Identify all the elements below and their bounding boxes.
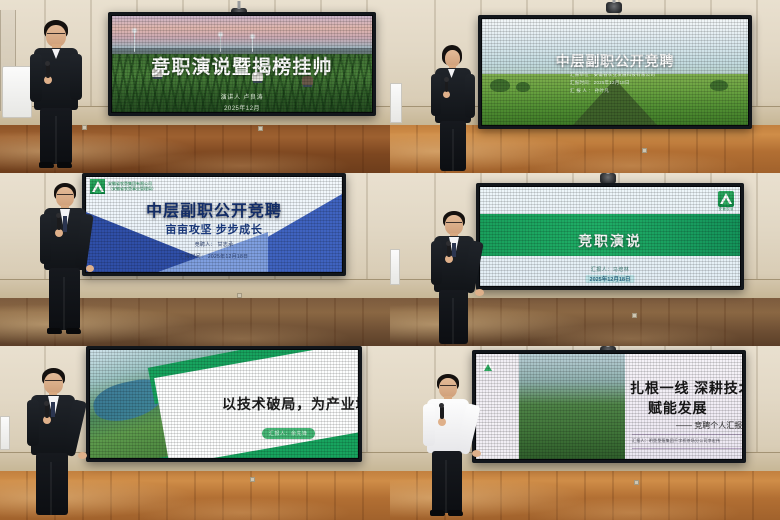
presenter-legs <box>36 453 68 515</box>
glasses-icon <box>440 385 456 388</box>
presenter-head <box>56 187 74 207</box>
slide-1: 竞职演说暨揭榜挂帅 演讲人 卢良涛 2025年12月 <box>112 16 372 112</box>
wall-outlet <box>258 126 263 131</box>
microphone-icon <box>46 64 50 78</box>
wall-outlet <box>237 293 242 298</box>
green-mountain-a-logo-icon <box>718 191 734 207</box>
presenter-shoe <box>430 510 445 516</box>
wall-outlet <box>250 477 255 482</box>
slide-divider <box>632 434 742 435</box>
slide-6: 扎根一线 深耕技术 赋能发展 —— 竞聘个人汇报 汇报人：明垦垦殖集团千字桥茶场… <box>476 354 742 459</box>
wind-turbine-icon <box>220 34 221 52</box>
whiteboard <box>390 249 400 285</box>
slide-5: 以技术破局，为产业增效 汇报人：余先锋 <box>90 350 358 458</box>
presenter-shoe <box>57 162 72 168</box>
panel-6: 扎根一线 深耕技术 赋能发展 —— 竞聘个人汇报 汇报人：明垦垦殖集团千字桥茶场… <box>390 346 780 520</box>
presenter-arm-left <box>30 54 42 102</box>
glasses-icon <box>446 222 462 225</box>
led-screen: 以技术破局，为产业增效 汇报人：余先锋 <box>90 350 358 458</box>
photo-grid: 竞职演说暨揭榜挂帅 演讲人 卢良涛 2025年12月 <box>0 0 780 520</box>
slide-subtitle: —— 竞聘个人汇报 <box>676 420 742 431</box>
presenter-4 <box>430 211 484 346</box>
slide-presenter-line: 汇报人：马培林 <box>591 266 630 273</box>
slide-presenter-line: 汇 报 人 ： 孙叶凡 <box>570 88 609 94</box>
led-screen: 安 徽 农 垦 竞职演说 汇报人：马培林 2025年12月18日 <box>480 187 740 286</box>
slide-presenter-line: 汇报人：明垦垦殖集团千字桥茶场分公司李宏伟 <box>632 438 720 444</box>
slide-presenter-line: 演讲人 卢良涛 <box>221 92 264 101</box>
slide-tree <box>490 79 510 92</box>
wall-outlet <box>634 480 639 485</box>
led-screen-frame: 安 徽 农 垦 竞职演说 汇报人：马培林 2025年12月18日 <box>476 183 744 290</box>
led-screen-frame: 以技术破局，为产业增效 汇报人：余先锋 <box>86 346 362 462</box>
slide-3: 安徽省农垦集团有限公司 （安徽省农垦事业管理局） 中层副职公开竞聘 亩亩攻坚 步… <box>86 177 342 272</box>
presenter-arm-left <box>40 214 51 264</box>
presenter-hand-gesture <box>78 452 87 459</box>
slide-title: 竞职演说 <box>578 231 642 251</box>
ceiling-camera <box>606 2 622 13</box>
presenter-arm-right <box>465 74 475 118</box>
slide-date-line: 2025年12月 <box>224 103 260 112</box>
slide-tree <box>516 82 530 92</box>
microphone-icon <box>45 404 49 418</box>
presenter-hand <box>438 418 446 426</box>
presenter-arm-left <box>423 404 435 446</box>
presenter-shoe <box>66 328 81 334</box>
whiteboard <box>0 416 10 450</box>
wind-turbine-icon <box>252 36 253 52</box>
presenter-legs <box>432 451 462 513</box>
presenter-hand-gesture <box>472 450 481 457</box>
panel-1: 竞职演说暨揭榜挂帅 演讲人 卢良涛 2025年12月 <box>0 0 390 173</box>
presenter-3 <box>38 183 94 343</box>
slide-title: 中层副职公开竞聘 <box>556 51 675 71</box>
led-screen-frame: 扎根一线 深耕技术 赋能发展 —— 竞聘个人汇报 汇报人：明垦垦殖集团千字桥茶场… <box>472 350 746 463</box>
presenter-6 <box>422 374 480 520</box>
panel-4: 安 徽 农 垦 竞职演说 汇报人：马培林 2025年12月18日 <box>390 173 780 346</box>
led-screen: 中层副职公开竞聘 汇报单位：安徽省农业发展科技有限公司 汇报时间：2025年12… <box>482 19 748 125</box>
presenter-head <box>44 373 63 394</box>
company-logo-caption: 安 徽 农 垦 <box>719 208 734 211</box>
presenter-shoe <box>39 162 54 168</box>
slide-date-line: 2025年12月18日 <box>586 275 635 283</box>
slide-divider <box>632 448 742 449</box>
slide-title: 中层副职公开竞聘 <box>146 197 282 221</box>
presenter-2 <box>430 45 476 173</box>
presenter-shoe <box>47 328 62 334</box>
presenter-leg-gap <box>445 460 447 513</box>
green-mountain-a-logo-icon <box>479 357 496 374</box>
wind-turbine-icon <box>134 30 135 52</box>
presenter-1 <box>28 20 84 170</box>
led-screen-frame: 竞职演说暨揭榜挂帅 演讲人 卢良涛 2025年12月 <box>108 12 376 116</box>
led-screen: 扎根一线 深耕技术 赋能发展 —— 竞聘个人汇报 汇报人：明垦垦殖集团千字桥茶场… <box>476 354 742 459</box>
slide-shape-mid <box>158 232 268 272</box>
glasses-icon <box>45 380 62 383</box>
company-logo: 安 徽 农 垦 <box>718 191 734 211</box>
led-screen-frame: 中层副职公开竞聘 汇报单位：安徽省农业发展科技有限公司 汇报时间：2025年12… <box>478 15 752 129</box>
presenter-hand-gesture <box>475 289 484 296</box>
company-logo: 安徽省农垦集团有限公司 （安徽省农垦事业管理局） <box>90 179 156 194</box>
presenter-arm-left <box>27 400 39 446</box>
presenter-hand <box>55 229 63 237</box>
glasses-icon <box>57 194 73 197</box>
presenter-head <box>439 378 457 398</box>
slide-title-line1: 扎根一线 深耕技术 <box>630 378 742 398</box>
wall-outlet <box>642 148 647 153</box>
presenter-head <box>445 215 463 235</box>
company-name-line2: （安徽省农垦事业管理局） <box>108 187 156 192</box>
presenter-hand <box>443 91 450 98</box>
presenter-arm-left <box>431 74 441 116</box>
led-screen: 安徽省农垦集团有限公司 （安徽省农垦事业管理局） 中层副职公开竞聘 亩亩攻坚 步… <box>86 177 342 272</box>
wall-outlet <box>632 313 637 318</box>
glasses-icon <box>47 33 65 36</box>
slide-subtitle: 亩亩攻坚 步步成长 <box>166 221 263 237</box>
company-logo-text: 安徽省农垦集团有限公司 （安徽省农垦事业管理局） <box>108 182 156 191</box>
presenter-leg-gap <box>55 116 57 164</box>
slide-title: 以技术破局，为产业增效 <box>222 394 358 414</box>
slide-candidate-line: 竞聘人： 甘志承 <box>195 241 234 248</box>
microphone-icon <box>57 216 61 230</box>
led-screen: 竞职演说暨揭榜挂帅 演讲人 卢良涛 2025年12月 <box>112 16 372 112</box>
slide-date-line: 汇报时间： 2025年12月18日 <box>180 253 249 260</box>
panel-2: 中层副职公开竞聘 汇报单位：安徽省农业发展科技有限公司 汇报时间：2025年12… <box>390 0 780 173</box>
necktie <box>51 402 55 417</box>
microphone-icon <box>445 80 448 92</box>
whiteboard <box>390 83 402 123</box>
slide-title-line2: 赋能发展 <box>648 398 707 418</box>
presenter-leg-gap <box>452 298 454 344</box>
microphone-icon <box>440 406 444 419</box>
presenter-arm-left <box>431 241 442 285</box>
slide-title: 竞职演说暨揭榜挂帅 <box>151 52 332 79</box>
presenter-hand-gesture <box>86 265 94 272</box>
microphone-icon <box>447 244 451 257</box>
slide-presenter-pill: 汇报人：余先锋 <box>262 428 315 439</box>
slide-4: 安 徽 农 垦 竞职演说 汇报人：马培林 2025年12月18日 <box>480 187 740 286</box>
panel-3: 安徽省农垦集团有限公司 （安徽省农垦事业管理局） 中层副职公开竞聘 亩亩攻坚 步… <box>0 173 390 346</box>
slide-date-line: 汇报时间：2025年12月18日 <box>570 80 630 86</box>
slide-tea-hill-photo <box>519 354 625 459</box>
presenter-leg-gap <box>63 277 65 330</box>
presenter-shoe <box>448 510 463 516</box>
presenter-arm-right <box>70 54 82 100</box>
presenter-leg-gap <box>50 462 52 515</box>
led-screen-frame: 安徽省农垦集团有限公司 （安徽省农垦事业管理局） 中层副职公开竞聘 亩亩攻坚 步… <box>82 173 346 276</box>
slide-2: 中层副职公开竞聘 汇报单位：安徽省农业发展科技有限公司 汇报时间：2025年12… <box>482 19 748 125</box>
slide-org-line: 汇报单位：安徽省农业发展科技有限公司 <box>570 72 655 78</box>
presenter-leg-gap <box>452 129 454 171</box>
company-logo <box>479 357 496 374</box>
panel-5: 以技术破局，为产业增效 汇报人：余先锋 <box>0 346 390 520</box>
necktie <box>452 243 456 257</box>
necktie <box>63 216 67 232</box>
presenter-5 <box>26 368 86 518</box>
